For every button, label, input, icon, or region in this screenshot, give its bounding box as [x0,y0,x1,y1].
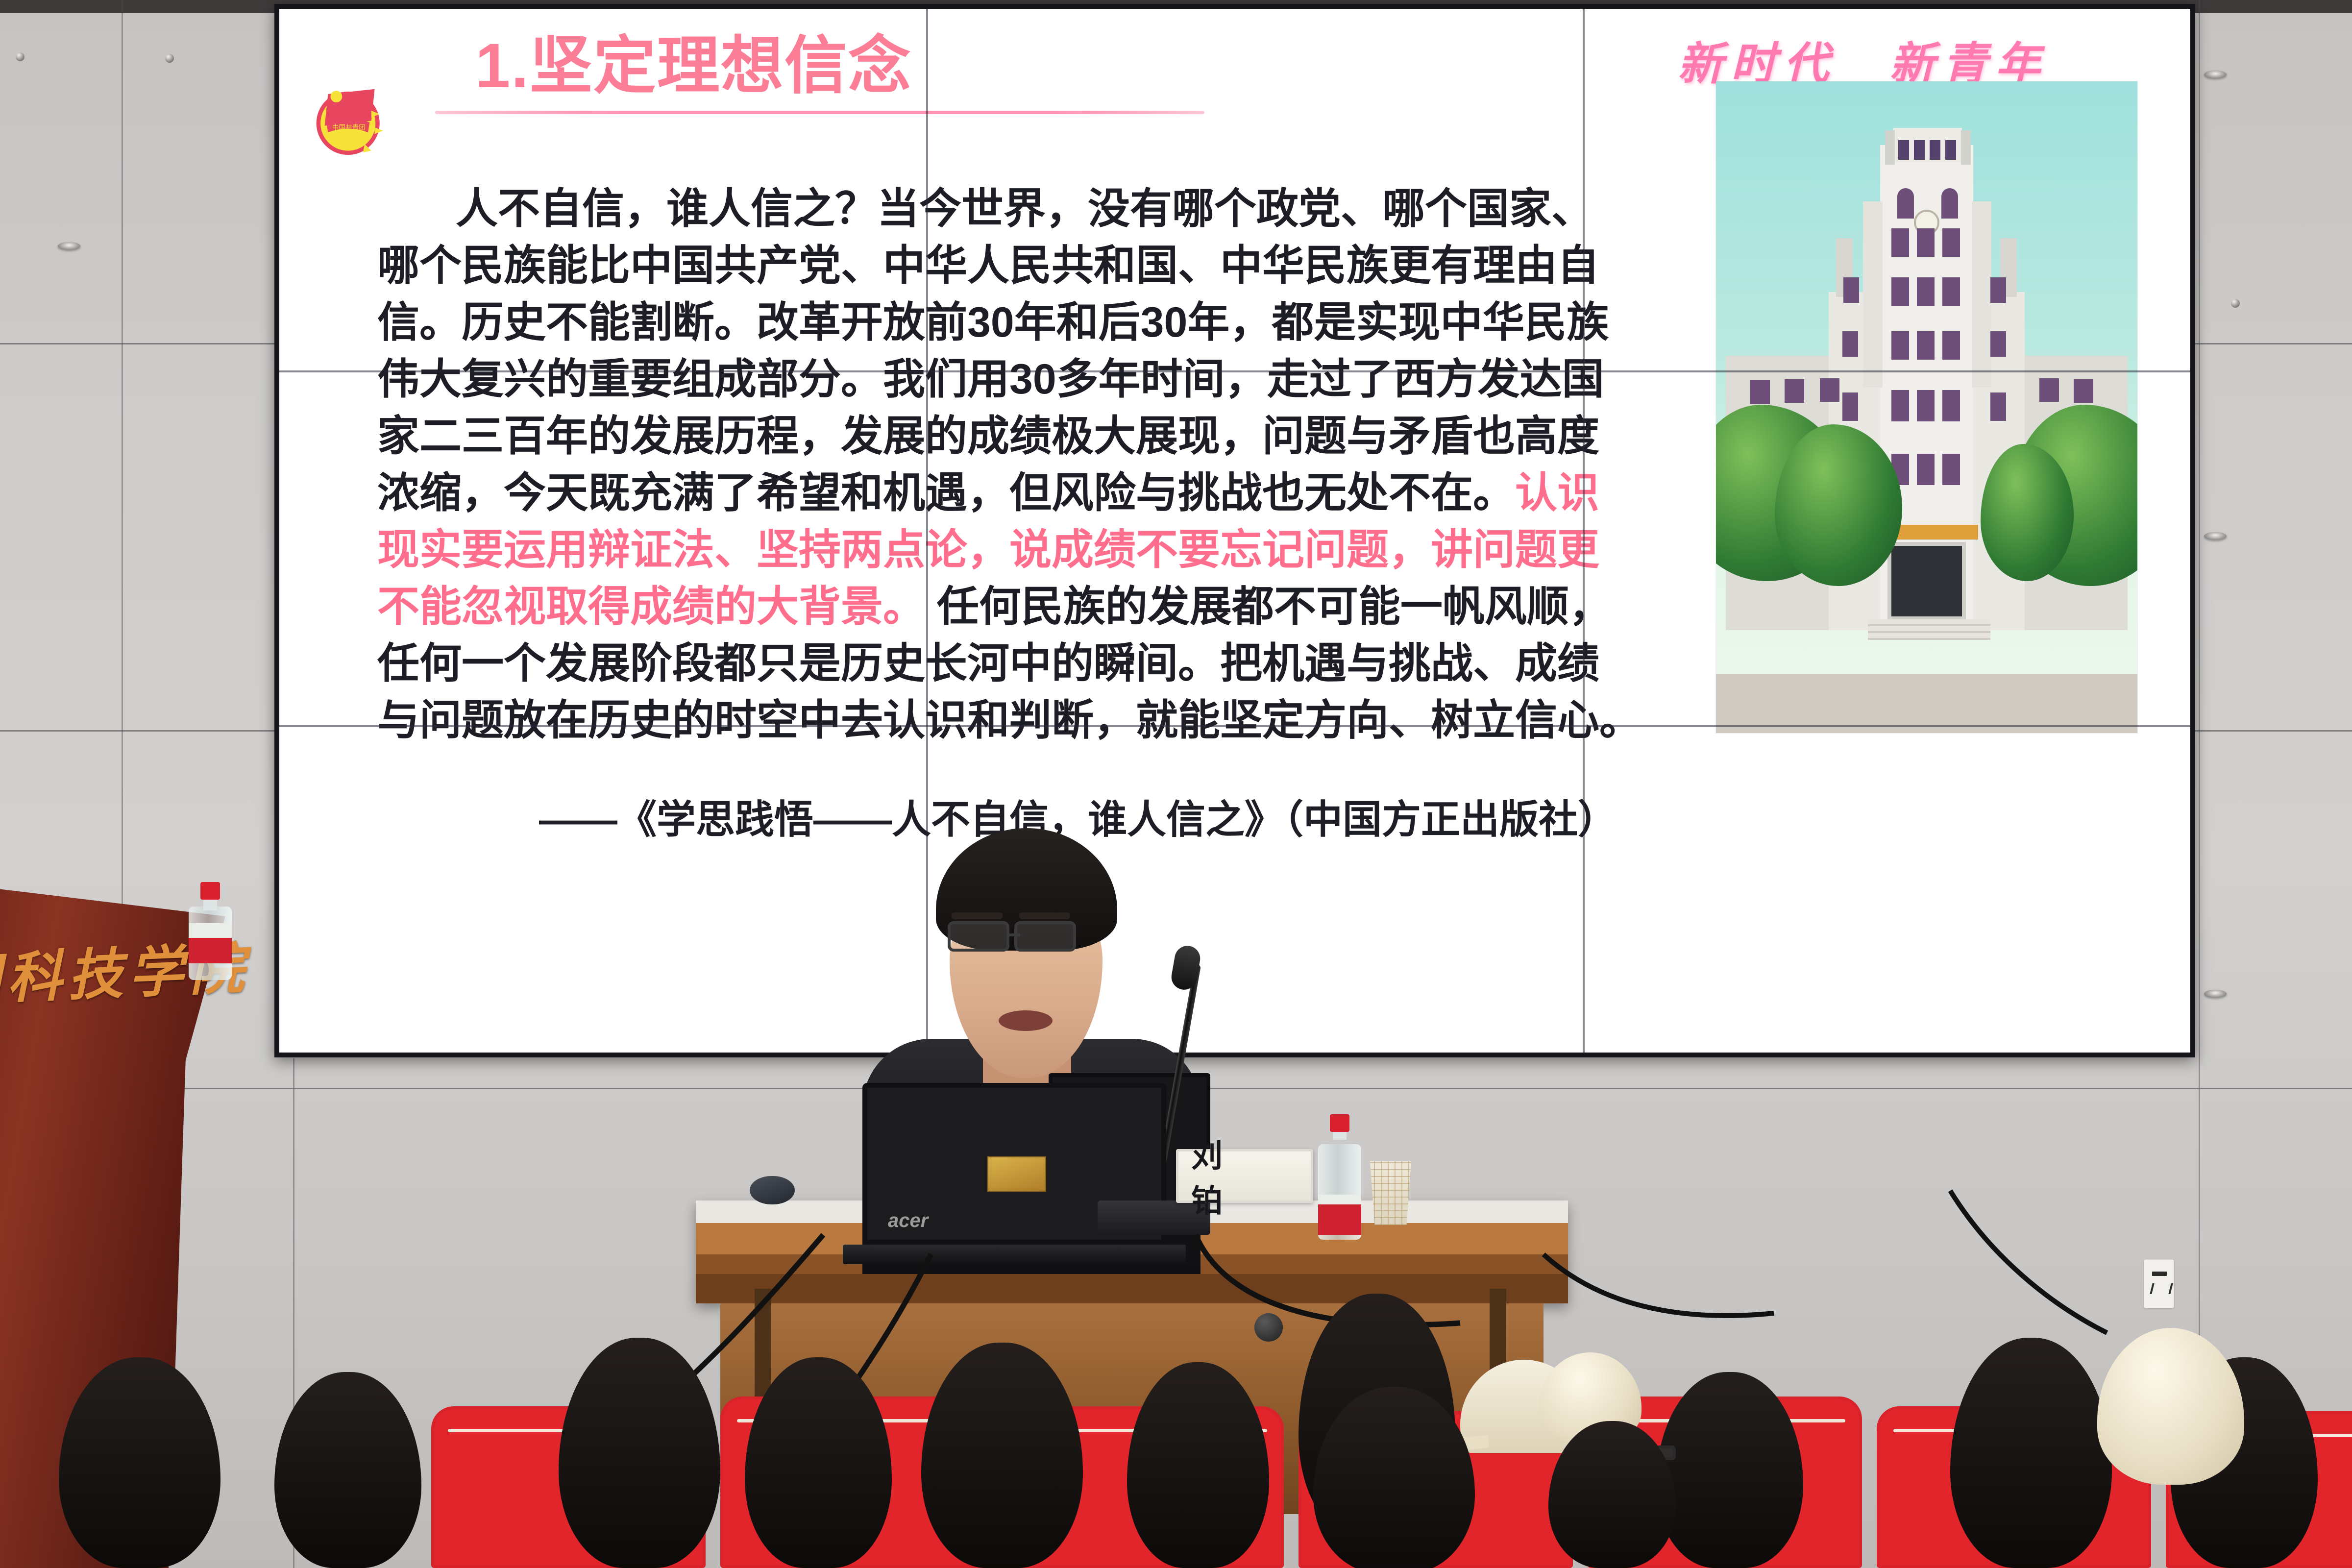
slide-surface: 中国共青团 1.坚定理想信念 新时代 新青年 [279,9,2190,1053]
audience-head [921,1343,1083,1568]
downlight-icon [2204,532,2227,540]
building-photo [1716,81,2137,733]
slide-title: 1.坚定理想信念 [475,33,912,99]
building-foreground-ground [1716,674,2137,733]
audience-area [0,1254,2352,1568]
paper-cup [1367,1161,1414,1225]
videowall-seam [279,725,2190,727]
videowall-seam [279,370,2190,372]
panel-screw [165,54,174,63]
body-line: 与问题放在历史的时空中去认识和判断，就能坚定方向、树立信心。 [377,692,1641,749]
body-line: 任何一个发展阶段都只是历史长河中的瞬间。把机遇与挑战、成绩 [377,635,1641,692]
building-steps [1868,619,1990,640]
body-line: 不能忽视取得成绩的大背景。 任何民族的发展都不可能一帆风顺， [377,578,1641,635]
communist-youth-league-emblem-icon: 中国共青团 [310,77,393,161]
podium-water-bottle [189,882,232,980]
body-line: 信。历史不能割断。改革开放前30年和后30年，都是实现中华民族 [377,294,1641,351]
body-line: 浓缩，今天既充满了希望和机遇，但风险与挑战也无处不在。认识 [377,465,1641,521]
videowall-seam [1583,9,1585,1053]
lecture-hall-photo: 中国共青团 1.坚定理想信念 新时代 新青年 [0,0,2352,1568]
audience-head [745,1357,892,1568]
laptop-sticker [987,1156,1046,1192]
downlight-icon [2204,990,2227,998]
desk-water-bottle [1318,1117,1361,1240]
panel-screw [16,52,24,61]
body-line-highlight: 认识 [1515,469,1599,516]
body-line-highlight: 不能忽视取得成绩的大背景。 [377,583,925,630]
body-line-highlight: 现实要运用辩证法、坚持两点论，说成绩不要忘记问题，讲问题更 [377,521,1641,578]
presenter-name: 刘 铂 [1178,1131,1311,1221]
presentation-screen: 中国共青团 1.坚定理想信念 新时代 新青年 [274,4,2195,1057]
downlight-icon [58,242,80,250]
title-underline [435,111,1204,114]
svg-text:中国共青团: 中国共青团 [332,124,366,131]
panel-screw [2231,299,2240,308]
audience-head [274,1372,421,1568]
body-line-text: 浓缩，今天既充满了希望和机遇，但风险与挑战也无处不在。 [377,469,1515,516]
audience-head [1950,1338,2112,1568]
slide-body: 人不自信，谁人信之？当今世界，没有哪个政党、哪个国家、 哪个民族能比中国共产党、… [377,180,1641,749]
body-line: 人不自信，谁人信之？当今世界，没有哪个政党、哪个国家、 [377,180,1641,237]
body-line: 家二三百年的发展历程，发展的成绩极大展现，问题与矛盾也高度 [377,408,1641,465]
building-entrance-door [1887,542,1966,620]
audience-head [59,1357,220,1568]
body-line: 伟大复兴的重要组成部分。我们用30多年时间，走过了西方发达国 [377,351,1641,408]
body-line: 哪个民族能比中国共产党、中华人民共和国、中华民族更有理由自 [377,237,1641,294]
laptop-brand-label: acer [888,1210,928,1232]
computer-mouse[interactable] [750,1176,795,1204]
downlight-icon [2204,71,2227,78]
presenter-nameplate: 刘 铂 [1176,1149,1313,1203]
audience-head [559,1338,720,1568]
audience-head [1127,1362,1269,1568]
body-line-text: 任何民族的发展都不可能一帆风顺， [925,583,1611,630]
audience-fur-hat [2097,1328,2244,1485]
